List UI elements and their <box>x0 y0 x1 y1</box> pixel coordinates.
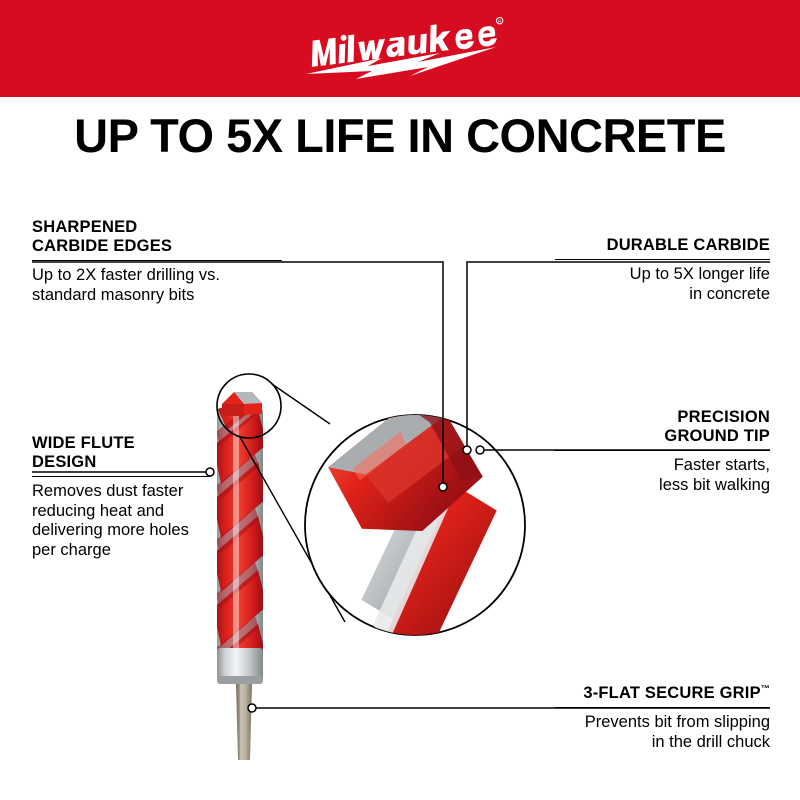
callout-body: Up to 2X faster drilling vs. standard ma… <box>32 266 282 305</box>
callout-rule <box>32 476 210 477</box>
callout-heading: WIDE FLUTE DESIGN <box>32 434 210 472</box>
drill-bit-body <box>213 372 267 760</box>
callout-durable-carbide: DURABLE CARBIDE Up to 5X longer life in … <box>555 236 770 304</box>
callout-precision-ground-tip: PRECISION GROUND TIP Faster starts, less… <box>555 408 770 495</box>
callout-body: Up to 5X longer life in concrete <box>555 265 770 304</box>
callout-rule <box>555 450 770 451</box>
callout-body: Removes dust faster reducing heat and de… <box>32 482 210 560</box>
callout-body: Prevents bit from slipping in the drill … <box>555 713 770 752</box>
infographic-page: R UP TO 5X LIFE IN CONCRETE <box>0 0 800 800</box>
callout-heading: PRECISION GROUND TIP <box>555 408 770 446</box>
callout-rule <box>32 260 282 261</box>
callout-3-flat-secure-grip: 3-FLAT SECURE GRIP™ Prevents bit from sl… <box>555 684 770 752</box>
drill-bit-illustration <box>0 0 800 800</box>
callout-rule <box>555 259 770 260</box>
callout-sharpened-carbide-edges: SHARPENED CARBIDE EDGES Up to 2X faster … <box>32 218 282 305</box>
magnifier-circle <box>276 389 556 687</box>
callout-wide-flute-design: WIDE FLUTE DESIGN Removes dust faster re… <box>32 434 210 560</box>
callout-rule <box>555 707 770 708</box>
callout-heading: DURABLE CARBIDE <box>555 236 770 255</box>
callout-heading: 3-FLAT SECURE GRIP™ <box>555 684 770 703</box>
callout-body: Faster starts, less bit walking <box>555 456 770 495</box>
trademark-symbol: ™ <box>761 684 770 694</box>
callout-heading: SHARPENED CARBIDE EDGES <box>32 218 282 256</box>
